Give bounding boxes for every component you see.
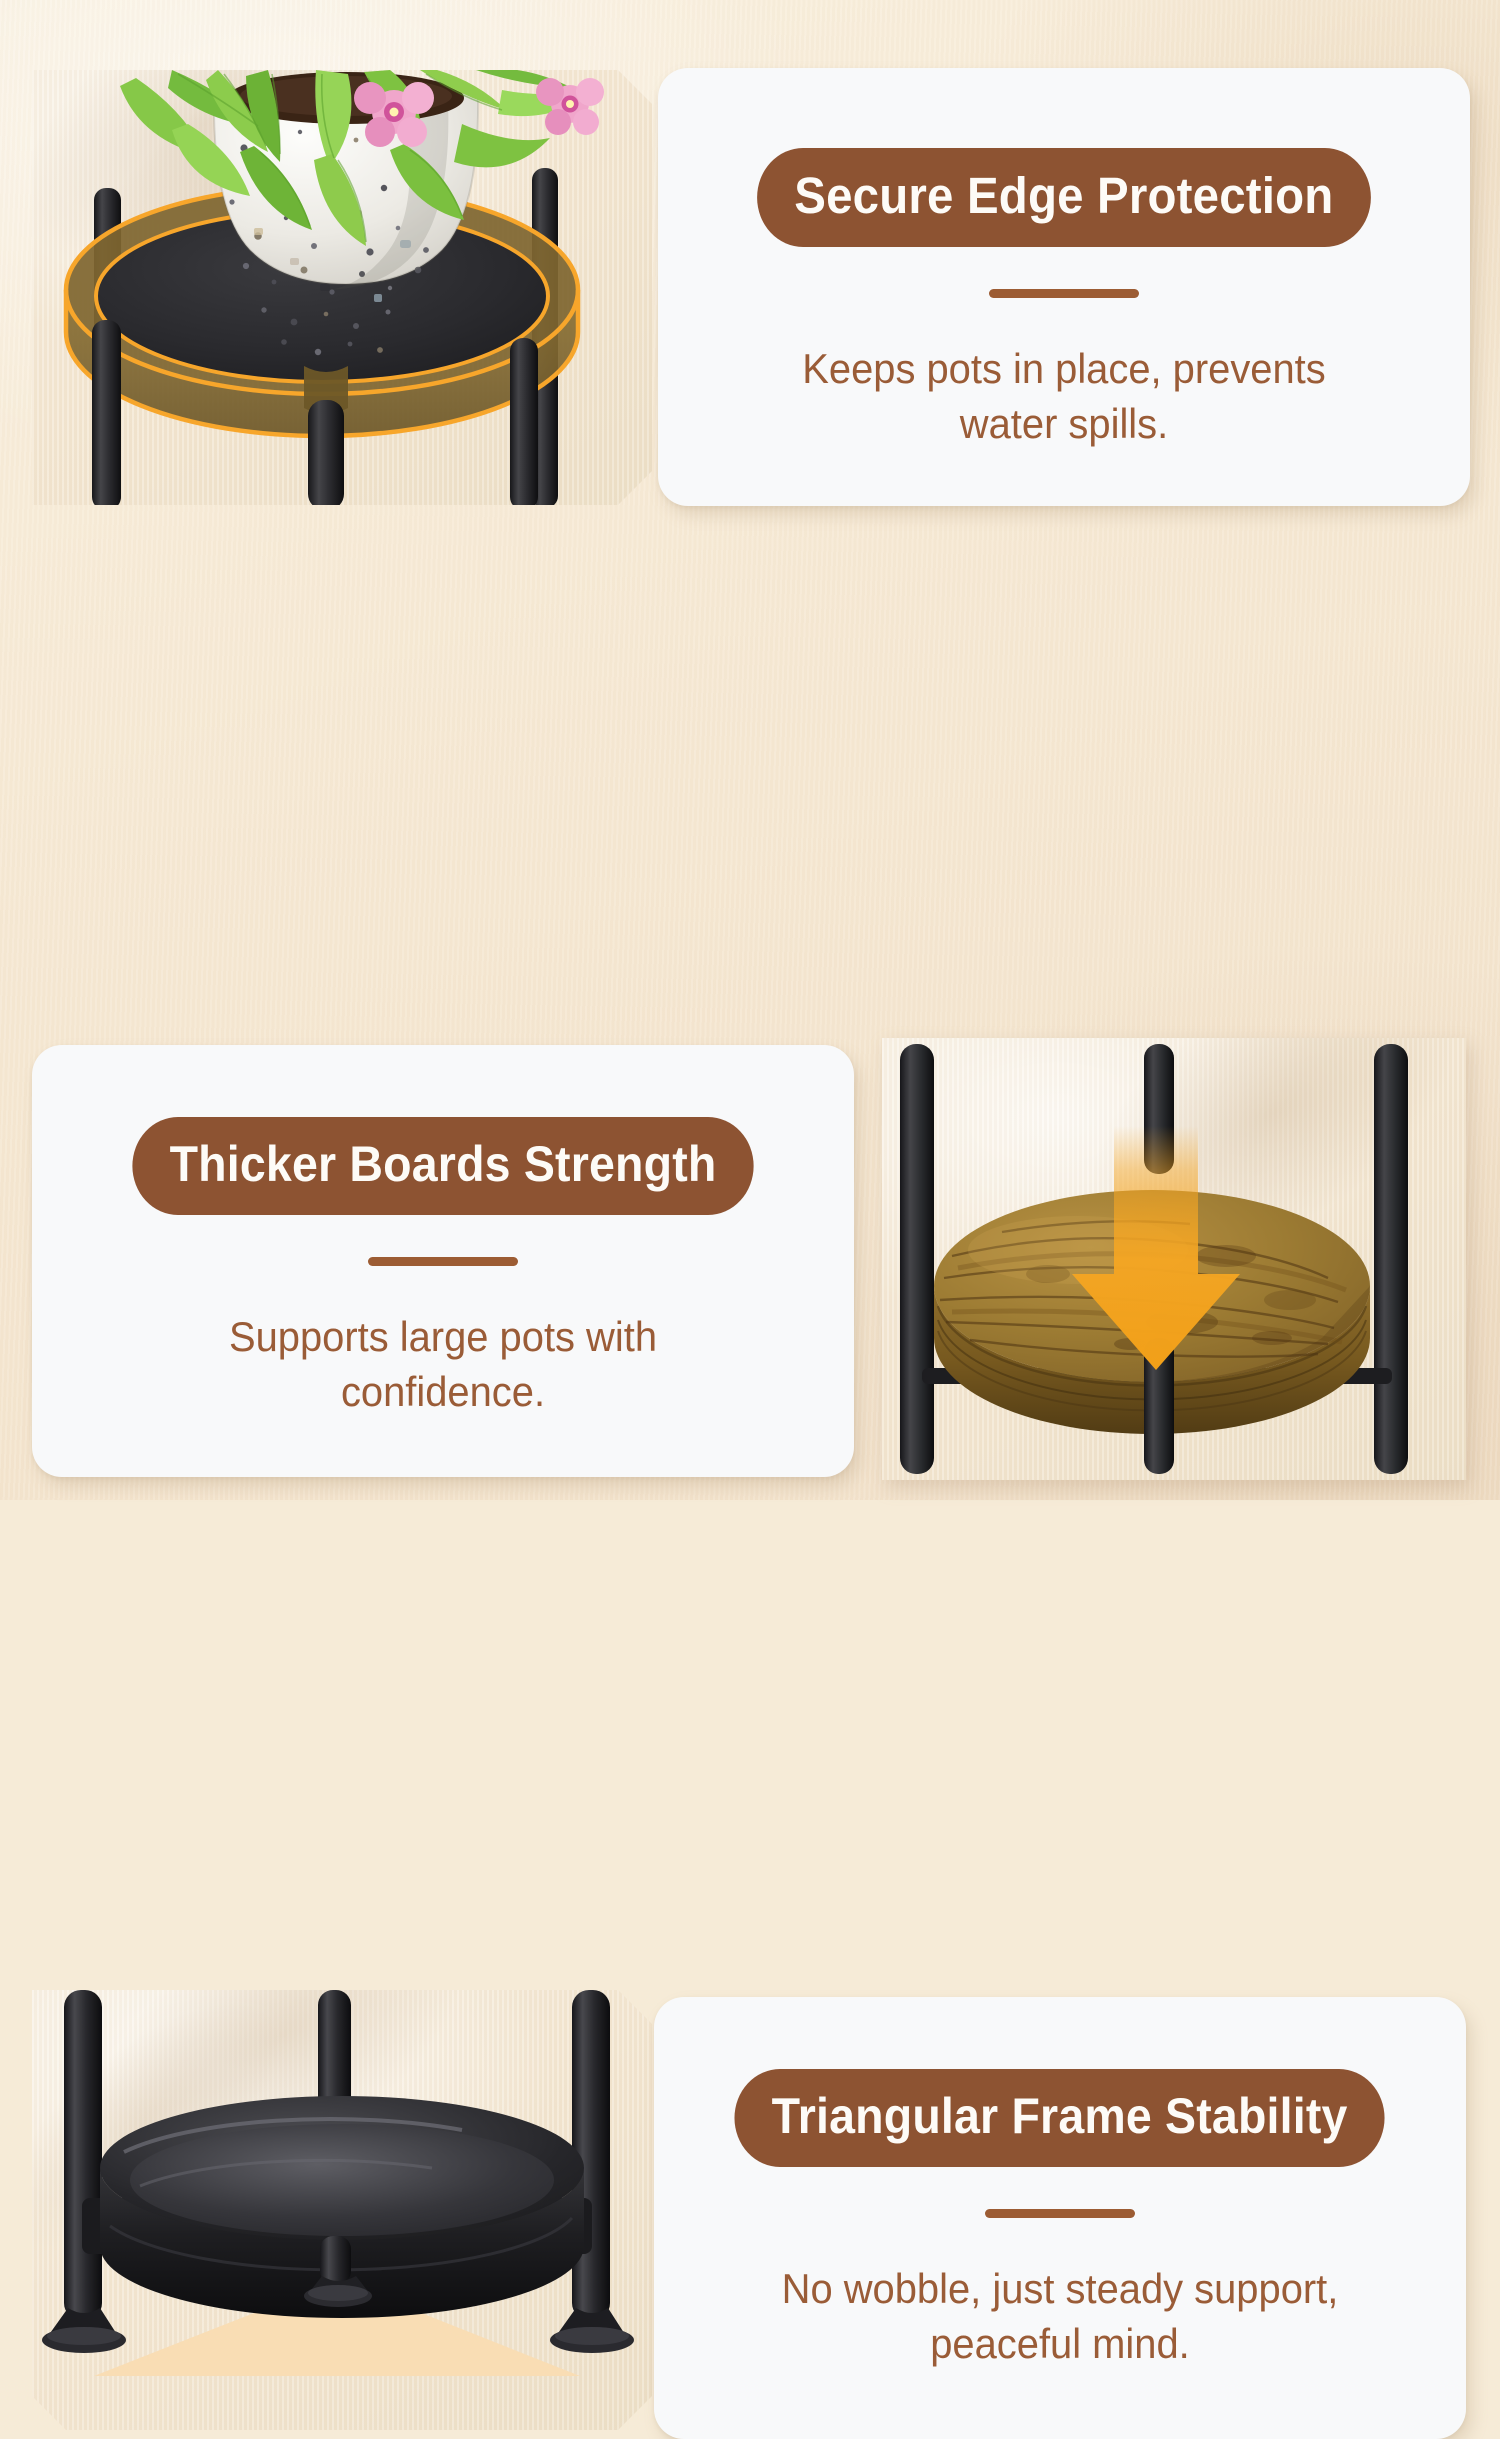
plant-stand-top-illustration — [32, 70, 652, 505]
heading-triangular-frame-stability: Triangular Frame Stability — [735, 2069, 1385, 2167]
heading-secure-edge-protection: Secure Edge Protection — [757, 148, 1371, 247]
photo-secure-edge-protection — [32, 70, 652, 505]
card-triangular-frame-stability: Triangular Frame Stability No wobble, ju… — [654, 1997, 1466, 2439]
description-secure-edge-protection: Keeps pots in place, prevents water spil… — [751, 342, 1378, 451]
stand-foot — [550, 2308, 634, 2353]
feature-row-triangular-frame-stability: Triangular Frame Stability No wobble, ju… — [0, 985, 1500, 1500]
feature-row-secure-edge-protection: Secure Edge Protection Keeps pots in pla… — [0, 0, 1500, 510]
photo-triangular-frame-stability — [32, 1990, 652, 2430]
feature-rows: Secure Edge Protection Keeps pots in pla… — [0, 0, 1500, 1500]
card-secure-edge-protection: Secure Edge Protection Keeps pots in pla… — [658, 68, 1470, 506]
heading-divider — [989, 289, 1139, 298]
heading-divider — [985, 2209, 1135, 2218]
stand-foot — [42, 2308, 126, 2353]
feature-row-thicker-boards-strength: Thicker Boards Strength Supports large p… — [0, 505, 1500, 995]
description-triangular-frame-stability: No wobble, just steady support, peaceful… — [747, 2262, 1374, 2371]
stand-base-illustration — [32, 1990, 652, 2430]
